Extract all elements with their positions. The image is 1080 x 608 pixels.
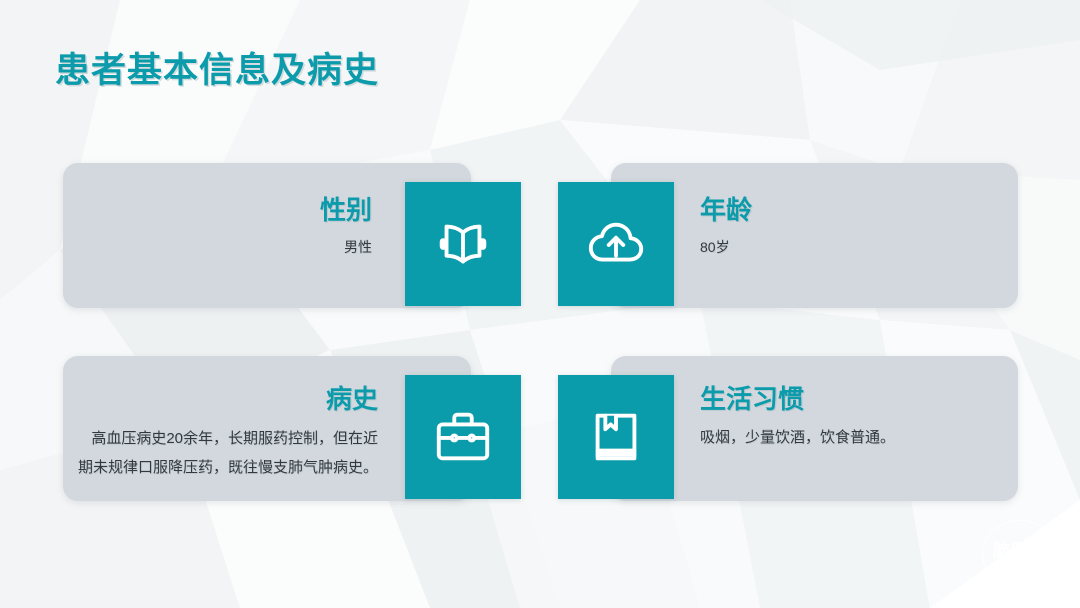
card-body-lifestyle: 吸烟，少量饮酒，饮食普通。 bbox=[700, 424, 1005, 452]
page-title: 患者基本信息及病史 bbox=[55, 42, 379, 93]
cloud-upload-icon bbox=[585, 213, 647, 275]
book-bookmark-icon bbox=[585, 406, 647, 468]
watermark-main-text: 脑医汇 bbox=[993, 542, 1047, 559]
watermark-sub-text: NAOYIHUI bbox=[1005, 562, 1036, 567]
card-body-gender: 男性 bbox=[90, 235, 372, 261]
card-heading-age: 年龄 bbox=[700, 196, 1000, 226]
card-text-medical-history: 病史 高血压病史20余年，长期服药控制，但在近期未规律口服降压药，既往慢支肺气肿… bbox=[78, 385, 378, 482]
card-text-lifestyle: 生活习惯 吸烟，少量饮酒，饮食普通。 bbox=[700, 385, 1005, 452]
icon-tile-gender[interactable] bbox=[405, 182, 521, 306]
icon-tile-age[interactable] bbox=[558, 182, 674, 306]
icon-tile-lifestyle[interactable] bbox=[558, 375, 674, 499]
card-heading-gender: 性别 bbox=[90, 196, 372, 226]
card-body-age: 80岁 bbox=[700, 235, 1000, 261]
open-book-icon bbox=[432, 213, 494, 275]
card-text-gender: 性别 男性 bbox=[90, 196, 372, 261]
slide-root: 患者基本信息及病史 bbox=[0, 0, 1080, 608]
briefcase-icon bbox=[432, 406, 494, 468]
icon-tile-medical-history[interactable] bbox=[405, 375, 521, 499]
card-heading-lifestyle: 生活习惯 bbox=[700, 385, 1005, 415]
card-heading-medical-history: 病史 bbox=[78, 385, 378, 415]
watermark-logo: 脑医汇 NAOYIHUI bbox=[982, 520, 1058, 588]
card-body-medical-history: 高血压病史20余年，长期服药控制，但在近期未规律口服降压药，既往慢支肺气肿病史。 bbox=[78, 424, 378, 483]
card-text-age: 年龄 80岁 bbox=[700, 196, 1000, 261]
